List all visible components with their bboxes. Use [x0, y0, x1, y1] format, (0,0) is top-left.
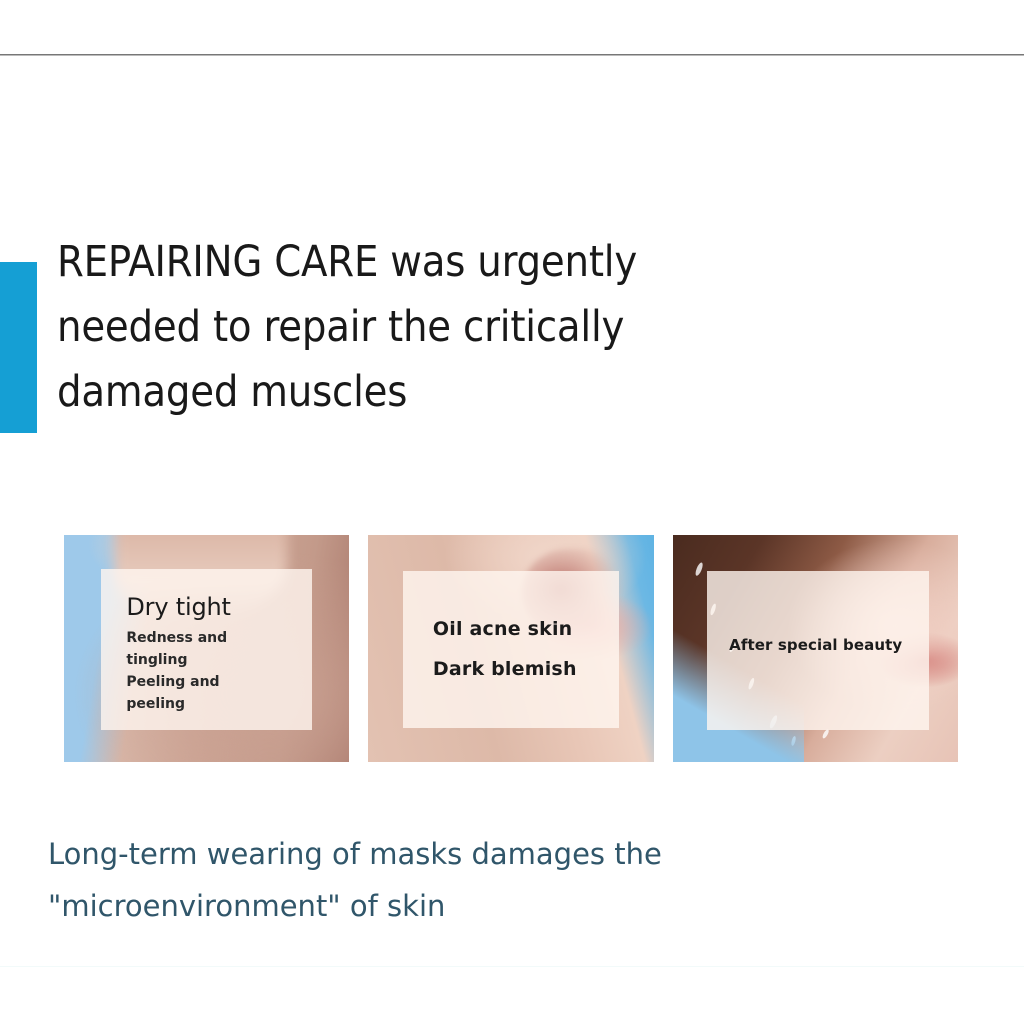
- bottom-divider-rule: [0, 966, 1024, 967]
- photo-card-oil-acne-skin[interactable]: Oil acne skin Dark blemish: [368, 535, 653, 762]
- card-subtitle: Dark blemish: [433, 657, 577, 681]
- label-panel: Dry tight Redness and tingling Peeling a…: [101, 569, 312, 730]
- photo-card-after-special-beauty[interactable]: After special beauty: [673, 535, 958, 762]
- card-title: After special beauty: [729, 635, 902, 655]
- caption-text: Long-term wearing of masks damages the "…: [48, 828, 808, 932]
- card-subtitle: Redness and tingling Peeling and peeling: [126, 627, 227, 715]
- card-title: Oil acne skin: [433, 617, 573, 641]
- label-panel: After special beauty: [707, 571, 930, 730]
- label-panel: Oil acne skin Dark blemish: [403, 571, 620, 728]
- photo-card-strip: Dry tight Redness and tingling Peeling a…: [64, 535, 958, 762]
- card-title: Dry tight: [126, 593, 230, 621]
- photo-card-dry-tight[interactable]: Dry tight Redness and tingling Peeling a…: [64, 535, 349, 762]
- top-divider-rule-shadow: [0, 55, 1024, 56]
- page-title: REPAIRING CARE was urgently needed to re…: [57, 230, 757, 425]
- accent-bar: [0, 262, 37, 433]
- slide-canvas: REPAIRING CARE was urgently needed to re…: [0, 0, 1024, 1024]
